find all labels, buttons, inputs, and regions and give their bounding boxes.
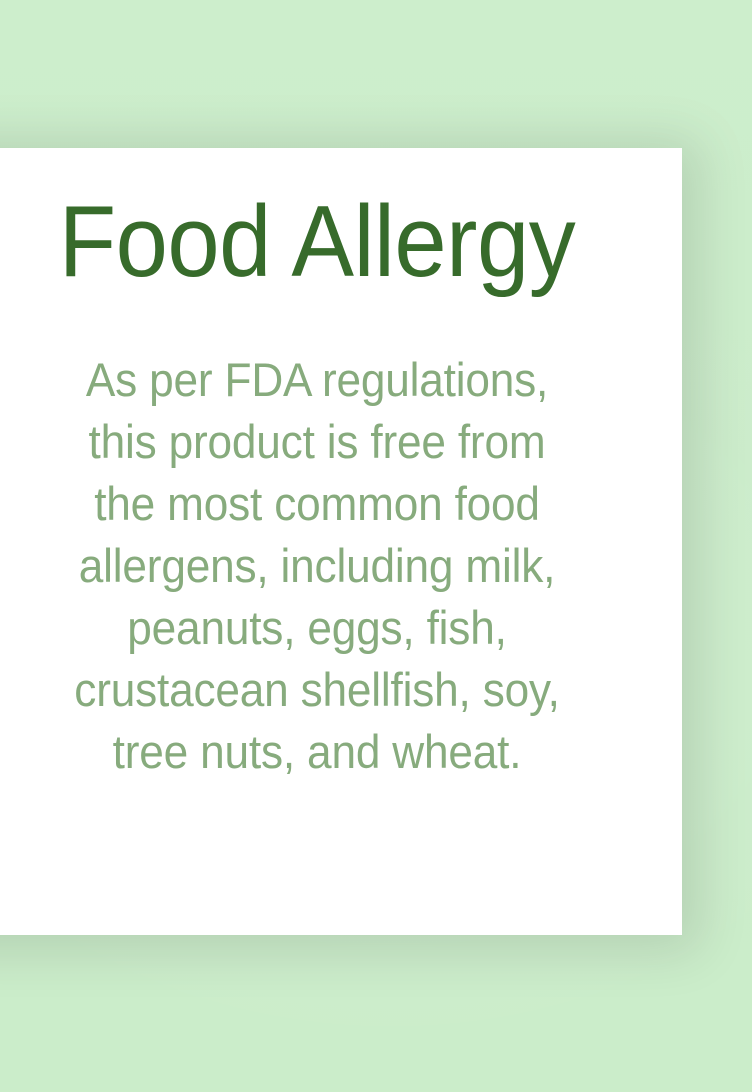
allergy-statement-line: allergens, including milk, — [19, 535, 615, 597]
allergy-statement-line: the most common food — [19, 473, 615, 535]
food-allergy-card: Food Allergy As per FDA regulations, thi… — [0, 148, 682, 935]
allergy-statement-line: tree nuts, and wheat. — [19, 721, 615, 783]
allergy-statement: As per FDA regulations, this product is … — [19, 349, 615, 783]
allergy-statement-line: As per FDA regulations, — [19, 349, 615, 411]
page-canvas: Food Allergy As per FDA regulations, thi… — [0, 0, 752, 1092]
allergy-statement-line: peanuts, eggs, fish, — [19, 597, 615, 659]
allergy-statement-line: crustacean shellfish, soy, — [19, 659, 615, 721]
allergy-statement-line: this product is free from — [19, 411, 615, 473]
page-title: Food Allergy — [22, 192, 612, 293]
